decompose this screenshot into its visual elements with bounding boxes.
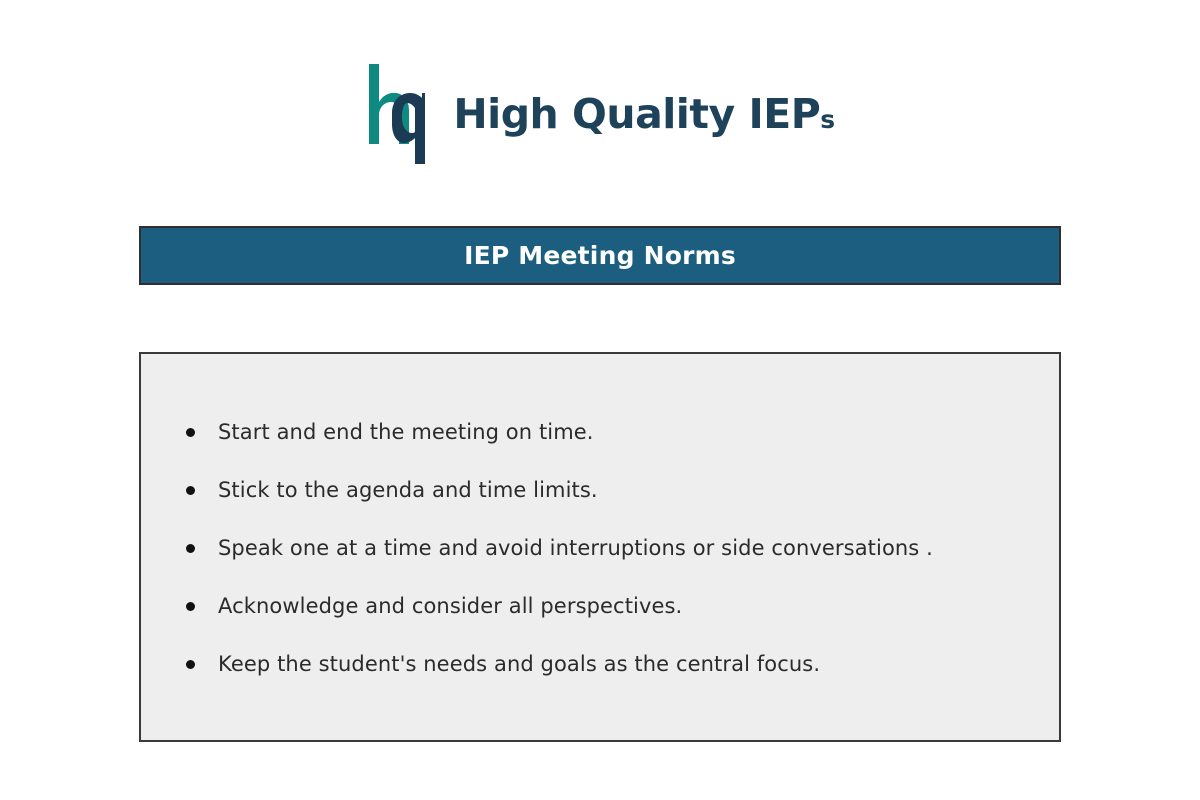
list-item-label: Speak one at a time and avoid interrupti… [218, 532, 933, 564]
bullet-icon [186, 428, 195, 437]
bullet-icon [186, 660, 195, 669]
brand-header: High Quality IEPs [0, 62, 1200, 166]
bullet-icon [186, 602, 195, 611]
brand-wordmark-sub: s [820, 107, 834, 132]
norms-content-box: Start and end the meeting on time. Stick… [139, 352, 1061, 742]
bullet-icon [186, 486, 195, 495]
hq-monogram-icon [365, 62, 427, 166]
page-title: IEP Meeting Norms [464, 241, 736, 270]
bullet-icon [186, 544, 195, 553]
title-banner: IEP Meeting Norms [139, 226, 1061, 285]
list-item: Speak one at a time and avoid interrupti… [141, 532, 1059, 568]
list-item: Stick to the agenda and time limits. [141, 474, 1059, 510]
norms-list: Start and end the meeting on time. Stick… [141, 354, 1059, 684]
list-item: Acknowledge and consider all perspective… [141, 590, 1059, 626]
brand-wordmark: High Quality IEPs [453, 94, 834, 135]
list-item-label: Start and end the meeting on time. [218, 416, 594, 448]
list-item: Start and end the meeting on time. [141, 416, 1059, 452]
list-item-label: Acknowledge and consider all perspective… [218, 590, 682, 622]
list-item-label: Keep the student's needs and goals as th… [218, 648, 820, 680]
list-item-label: Stick to the agenda and time limits. [218, 474, 598, 506]
list-item: Keep the student's needs and goals as th… [141, 648, 1059, 684]
brand-wordmark-main: High Quality IEP [453, 94, 820, 135]
